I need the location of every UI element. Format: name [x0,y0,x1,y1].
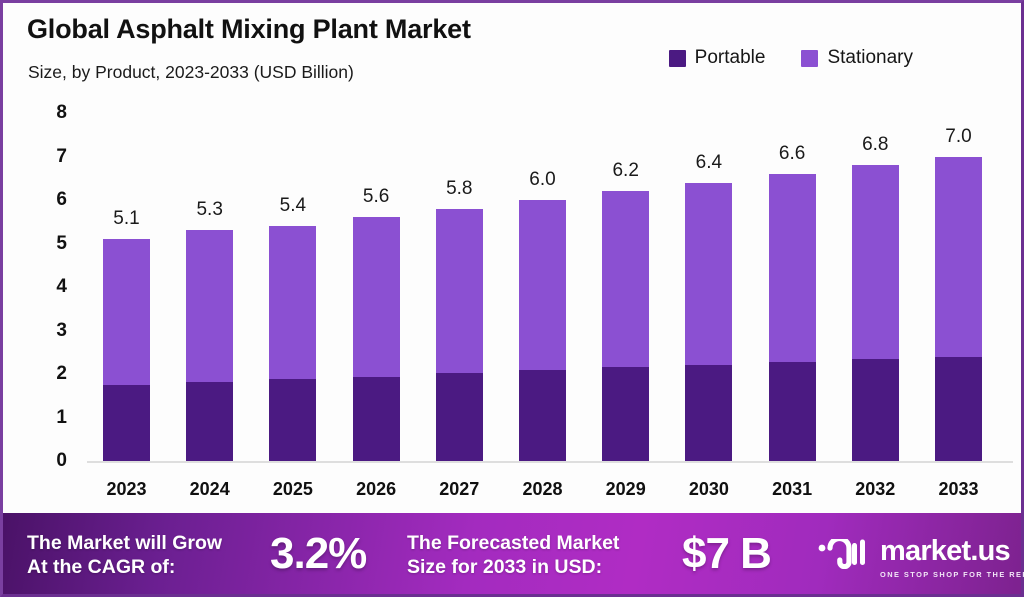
footer-forecast-caption-line2: Size for 2033 in USD: [407,556,619,580]
bar-group[interactable]: 6.62031 [769,99,816,519]
bar-segment-portable[interactable] [685,365,732,461]
y-axis-tick-0: 0 [56,450,67,472]
bar-value-label: 5.4 [280,195,306,217]
y-axis-tick-2: 2 [56,363,67,385]
y-axis-tick-5: 5 [56,233,67,255]
legend-item-stationary[interactable]: Stationary [801,47,913,69]
brand-tagline: ONE STOP SHOP FOR THE REPORTS [880,570,1024,579]
bar-segment-portable[interactable] [519,370,566,461]
bar-group[interactable]: 6.02028 [519,99,566,519]
chart-subtitle: Size, by Product, 2023-2033 (USD Billion… [28,62,354,83]
bar-segment-portable[interactable] [186,382,233,461]
legend-swatch-icon-stationary [801,50,818,67]
market-us-logo-icon [817,539,869,574]
bar-value-label: 6.8 [862,134,888,156]
bar-group[interactable]: 6.22029 [602,99,649,519]
x-axis-label-2023: 2023 [106,479,146,500]
bar-segment-portable[interactable] [935,357,982,461]
bar-group[interactable]: 5.32024 [186,99,233,519]
y-axis-tick-7: 7 [56,146,67,168]
bar-segment-stationary[interactable] [769,174,816,362]
x-axis-label-2027: 2027 [439,479,479,500]
bar-value-label: 5.6 [363,186,389,208]
bar-segment-stationary[interactable] [353,217,400,376]
bar-group[interactable]: 6.42030 [685,99,732,519]
bar-group[interactable]: 5.42025 [269,99,316,519]
x-axis-label-2025: 2025 [273,479,313,500]
bar-segment-stationary[interactable] [436,209,483,373]
bar-value-label: 5.1 [113,208,139,230]
infographic-root: Global Asphalt Mixing Plant Market Size,… [0,0,1024,597]
brand-logo[interactable]: market.us ONE STOP SHOP FOR THE REPORTS [817,537,1024,579]
chart-plot-area: 012345678 5.120235.320245.420255.620265.… [3,99,1021,519]
page-title: Global Asphalt Mixing Plant Market [27,14,471,45]
bar-segment-stationary[interactable] [103,239,150,385]
footer-forecast-value: $7 B [682,529,771,579]
y-axis-tick-3: 3 [56,320,67,342]
legend-label-stationary: Stationary [827,47,913,69]
x-axis-label-2033: 2033 [938,479,978,500]
footer-cagr-caption-line1: The Market will Grow [27,532,222,556]
footer-forecast-caption: The Forecasted Market Size for 2033 in U… [407,532,619,580]
y-axis-tick-4: 4 [56,276,67,298]
footer-forecast-caption-line1: The Forecasted Market [407,532,619,556]
bar-value-label: 5.8 [446,178,472,200]
brand-name: market.us [880,537,1024,566]
bar-segment-portable[interactable] [769,362,816,461]
x-axis-label-2028: 2028 [522,479,562,500]
legend-label-portable: Portable [695,47,766,69]
bar-group[interactable]: 5.62026 [353,99,400,519]
bar-value-label: 6.4 [696,152,722,174]
bar-group[interactable]: 7.02033 [935,99,982,519]
x-axis-label-2031: 2031 [772,479,812,500]
bar-segment-stationary[interactable] [186,230,233,381]
brand-words: market.us ONE STOP SHOP FOR THE REPORTS [880,537,1024,579]
legend-swatch-icon-portable [669,50,686,67]
bar-value-label: 6.0 [529,169,555,191]
bar-segment-stationary[interactable] [685,183,732,365]
x-axis-label-2029: 2029 [606,479,646,500]
bar-segment-stationary[interactable] [852,165,899,359]
x-axis-label-2032: 2032 [855,479,895,500]
bar-value-label: 5.3 [196,199,222,221]
x-axis-label-2030: 2030 [689,479,729,500]
y-axis-tick-8: 8 [56,102,67,124]
chart-legend: Portable Stationary [669,47,913,69]
footer-cagr-caption: The Market will Grow At the CAGR of: [27,532,222,580]
bar-segment-portable[interactable] [103,385,150,461]
x-axis-label-2024: 2024 [190,479,230,500]
footer-banner: The Market will Grow At the CAGR of: 3.2… [3,513,1021,594]
bar-segment-stationary[interactable] [269,226,316,379]
bar-value-label: 6.2 [612,160,638,182]
bar-group[interactable]: 5.12023 [103,99,150,519]
bar-segment-stationary[interactable] [935,157,982,357]
bar-segment-portable[interactable] [353,377,400,461]
bar-segment-stationary[interactable] [602,191,649,367]
bar-value-label: 6.6 [779,143,805,165]
bar-segment-portable[interactable] [436,373,483,461]
legend-item-portable[interactable]: Portable [669,47,766,69]
bar-segment-portable[interactable] [852,359,899,461]
bar-segment-stationary[interactable] [519,200,566,370]
x-axis-label-2026: 2026 [356,479,396,500]
bars-area: 5.120235.320245.420255.620265.820276.020… [87,99,1013,519]
y-axis-tick-6: 6 [56,189,67,211]
bar-segment-portable[interactable] [269,379,316,461]
footer-cagr-caption-line2: At the CAGR of: [27,556,222,580]
footer-cagr-value: 3.2% [270,529,366,579]
y-axis: 012345678 [3,99,93,519]
bar-group[interactable]: 6.82032 [852,99,899,519]
bar-value-label: 7.0 [945,126,971,148]
bar-segment-portable[interactable] [602,367,649,461]
bar-group[interactable]: 5.82027 [436,99,483,519]
y-axis-tick-1: 1 [56,407,67,429]
